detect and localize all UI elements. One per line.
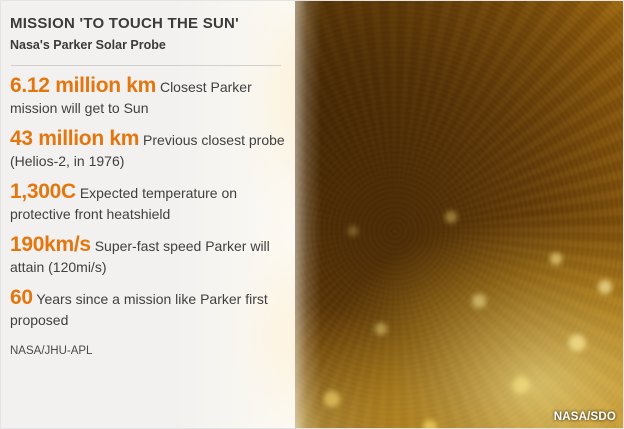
sun-photograph: NASA/SDO [295,1,624,429]
page-title: MISSION 'TO TOUCH THE SUN' [10,14,285,33]
image-credit-label: NASA/SDO [554,411,616,423]
stat-value: 1,300C [10,180,76,203]
solar-disc [295,1,624,429]
stat-item-speed: 190km/s Super-fast speed Parker will att… [10,233,285,277]
stat-item-closest-approach: 6.12 million km Closest Parker mission w… [10,74,285,118]
stat-value: 43 million km [10,127,139,150]
solar-limb-ring [295,1,624,429]
divider [11,65,281,66]
data-source-label: NASA/JHU-APL [10,344,285,359]
stat-value: 60 [10,286,33,309]
stat-item-temperature: 1,300C Expected temperature on protectiv… [10,180,285,224]
infographic-card: MISSION 'TO TOUCH THE SUN' Nasa's Parker… [0,0,624,429]
stat-item-years-since-proposed: 60 Years since a mission like Parker fir… [10,286,285,330]
stat-value: 190km/s [10,233,91,256]
stat-description: Years since a mission like Parker first … [10,291,268,328]
statistics-panel: MISSION 'TO TOUCH THE SUN' Nasa's Parker… [1,1,295,429]
page-subtitle: Nasa's Parker Solar Probe [10,37,285,53]
stat-value: 6.12 million km [10,74,156,97]
stat-item-previous-closest: 43 million km Previous closest probe (He… [10,127,285,171]
